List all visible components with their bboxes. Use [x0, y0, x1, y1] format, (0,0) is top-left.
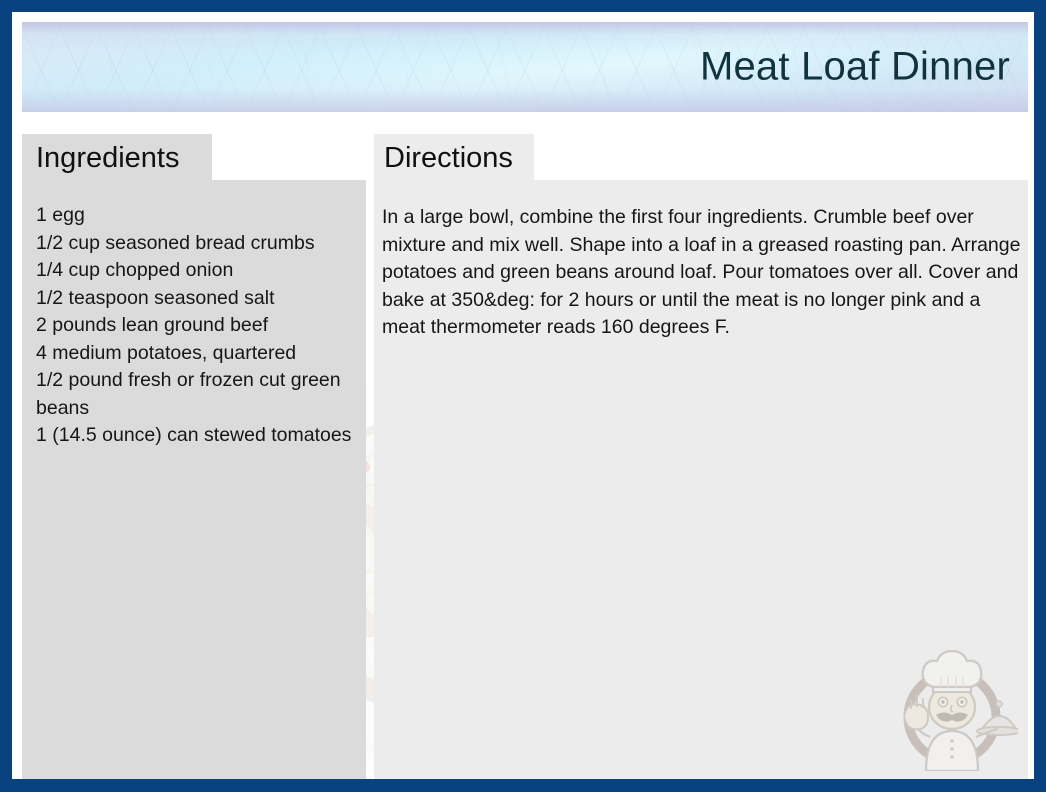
recipe-title: Meat Loaf Dinner	[700, 45, 1010, 90]
ingredient-item: 1 egg	[36, 202, 356, 230]
ingredient-item: 2 pounds lean ground beef	[36, 312, 356, 340]
ingredient-item: 1/2 teaspoon seasoned salt	[36, 285, 356, 313]
ingredient-item: 1/4 cup chopped onion	[36, 257, 356, 285]
ingredient-item: 1 (14.5 ounce) can stewed tomatoes	[36, 422, 356, 450]
ingredients-heading: Ingredients	[36, 142, 180, 175]
ingredients-list: 1 egg 1/2 cup seasoned bread crumbs 1/4 …	[36, 202, 356, 450]
directions-text: In a large bowl, combine the first four …	[382, 204, 1026, 342]
recipe-page: Meat Loaf Dinner Ingredients 1 egg 1/2 c…	[12, 12, 1034, 779]
ingredient-item: 1/2 pound fresh or frozen cut green bean…	[36, 367, 356, 422]
directions-heading: Directions	[384, 142, 513, 175]
ingredient-item: 1/2 cup seasoned bread crumbs	[36, 230, 356, 258]
title-banner: Meat Loaf Dinner	[22, 22, 1028, 112]
recipe-card-frame: Meat Loaf Dinner Ingredients 1 egg 1/2 c…	[0, 0, 1046, 792]
ingredient-item: 4 medium potatoes, quartered	[36, 340, 356, 368]
